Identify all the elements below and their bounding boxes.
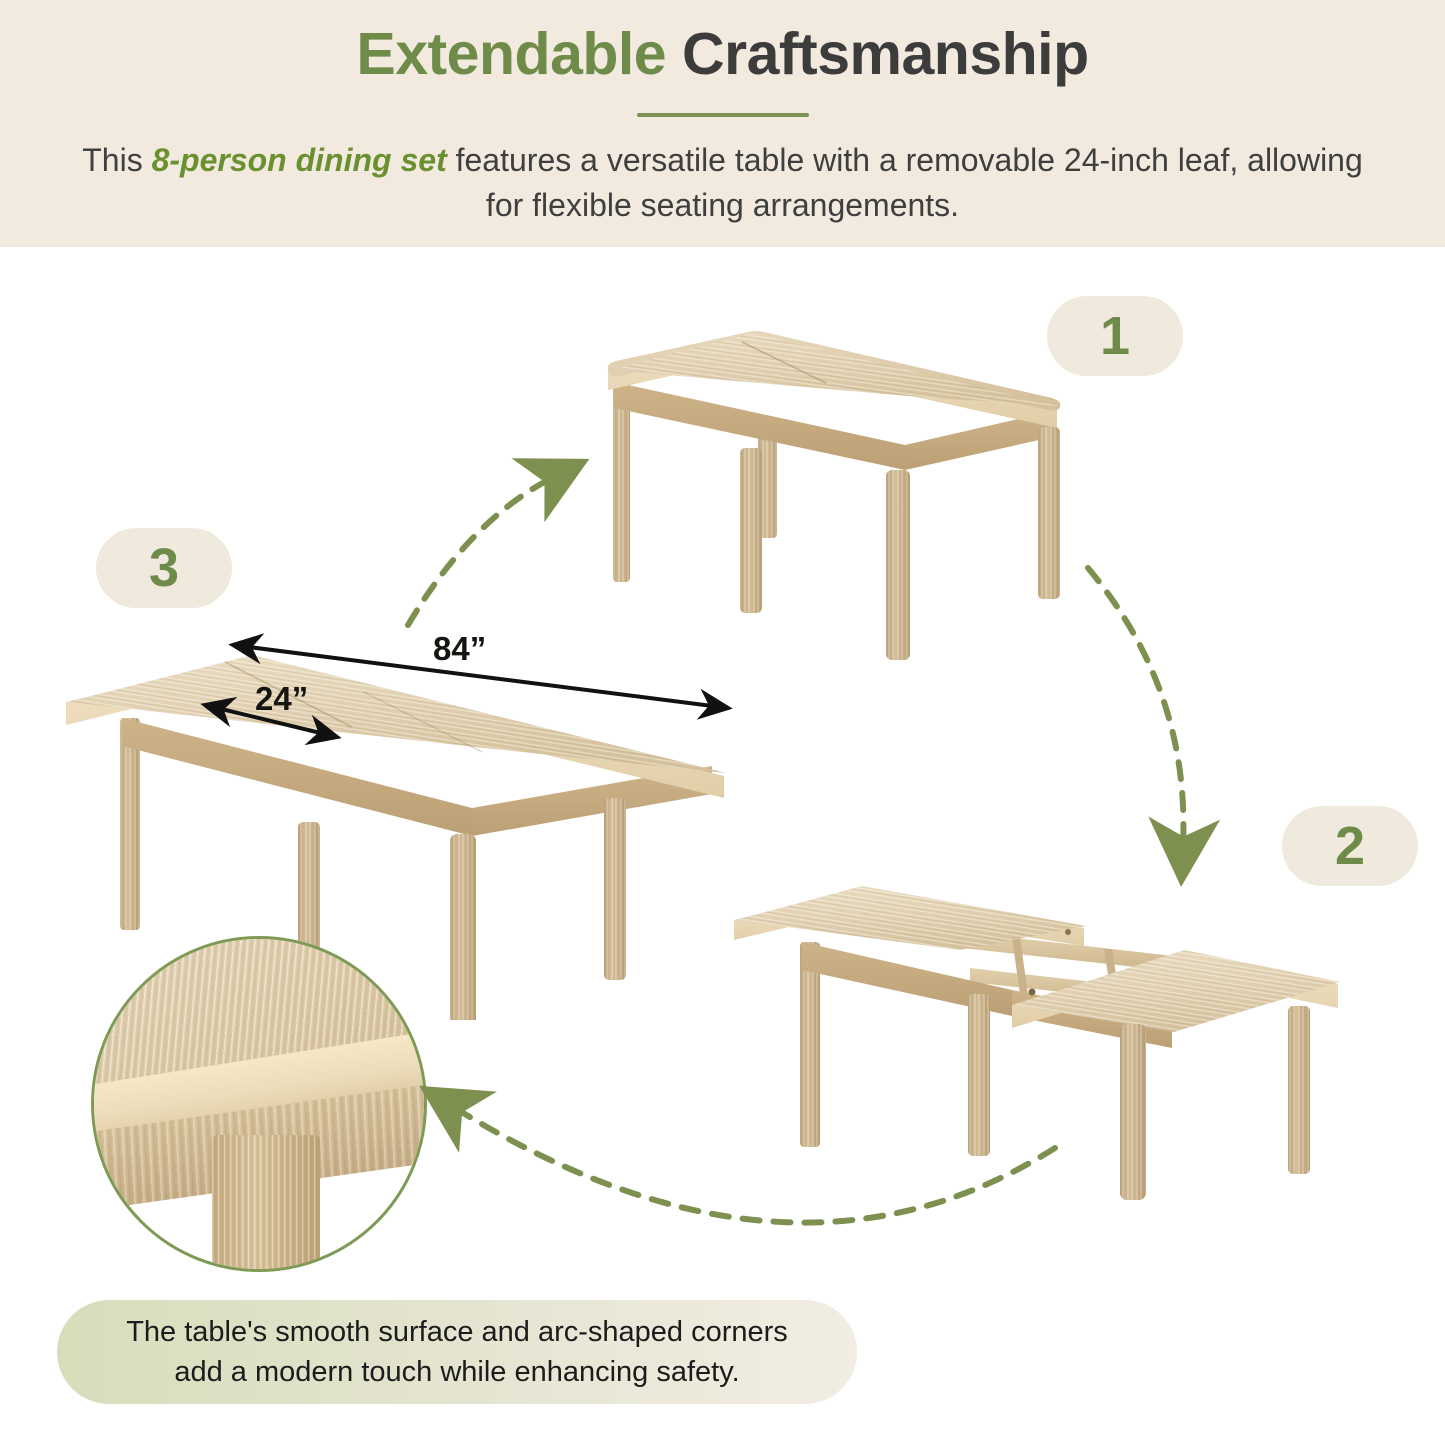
table-2-hardware-1 xyxy=(1065,929,1071,935)
step-badge-3: 3 xyxy=(96,528,232,608)
title-divider xyxy=(637,113,809,117)
page-title: Extendable Craftsmanship xyxy=(0,22,1445,87)
page-title-rest: Craftsmanship xyxy=(682,21,1089,87)
table-illustration-closed xyxy=(590,320,1090,670)
table-illustration-split xyxy=(712,872,1352,1202)
subtitle-pre: This xyxy=(82,142,151,178)
arrow-step1-to-step2 xyxy=(1088,568,1183,845)
page-title-accent: Extendable xyxy=(356,21,666,87)
step-badge-3-number: 3 xyxy=(149,541,179,595)
subtitle-highlight: 8-person dining set xyxy=(152,142,447,178)
page-subtitle: This 8-person dining set features a vers… xyxy=(73,138,1373,229)
table-2-hardware-2 xyxy=(1029,989,1036,996)
step-badge-2-number: 2 xyxy=(1335,819,1365,873)
arrow-step3-to-step1 xyxy=(408,478,552,625)
dimension-label-leaf: 24” xyxy=(255,680,308,718)
bottom-caption-line1: The table's smooth surface and arc-shape… xyxy=(126,1312,788,1352)
subtitle-post: features a versatile table with a remova… xyxy=(447,142,1363,223)
bottom-caption: The table's smooth surface and arc-shape… xyxy=(57,1300,857,1404)
dimension-label-length: 84” xyxy=(433,630,486,668)
table-2-svg xyxy=(712,872,1352,1202)
table-1-svg xyxy=(590,320,1090,670)
step-badge-1-number: 1 xyxy=(1100,309,1130,363)
corner-detail-leg xyxy=(212,1135,320,1272)
corner-detail-circle xyxy=(91,936,427,1272)
bottom-caption-line2: add a modern touch while enhancing safet… xyxy=(126,1352,788,1392)
